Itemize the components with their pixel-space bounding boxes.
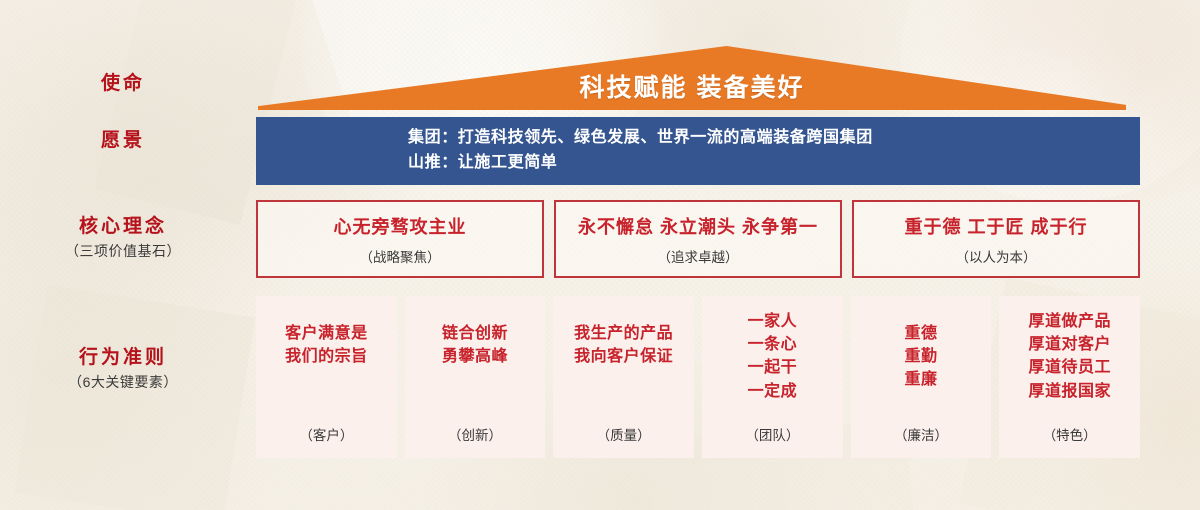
core-concept-title-1: 心无旁骛攻主业 — [334, 213, 467, 239]
tier-label-core-concept-text: 核心理念 — [8, 215, 238, 239]
tier-label-core-concept: 核心理念 （三项价值基石） — [8, 215, 238, 260]
behavior-card-innovation[interactable]: 链合创新勇攀高峰 （创新） — [405, 296, 546, 458]
core-concept-row: 心无旁骛攻主业 （战略聚焦） 永不懈怠 永立潮头 永争第一 （追求卓越） 重于德… — [256, 200, 1140, 278]
mission-banner: 科技赋能 装备美好 — [258, 46, 1126, 110]
behavior-lines-customer: 客户满意是我们的宗旨 — [285, 322, 368, 368]
tier-label-mission: 使命 — [8, 72, 238, 96]
background-silhouette-3 — [15, 285, 255, 510]
behavior-tag-team: （团队） — [745, 424, 799, 444]
vision-statement-block: 集团：打造科技领先、绿色发展、世界一流的高端装备跨国集团 山推：让施工更简单 — [408, 126, 873, 176]
vision-statement-group: 集团：打造科技领先、绿色发展、世界一流的高端装备跨国集团 — [408, 126, 873, 151]
behavior-card-character[interactable]: 厚道做产品厚道对客户厚道待员工厚道报国家 （特色） — [999, 296, 1140, 458]
mission-statement: 科技赋能 装备美好 — [258, 68, 1126, 104]
tier-label-vision: 愿景 — [8, 129, 238, 153]
behavior-lines-integrity: 重德重勤重廉 — [905, 322, 938, 392]
behavior-tag-customer: （客户） — [299, 424, 353, 444]
behavior-card-customer[interactable]: 客户满意是我们的宗旨 （客户） — [256, 296, 397, 458]
core-concept-subtitle-3: （以人为本） — [956, 246, 1037, 266]
behavior-card-integrity[interactable]: 重德重勤重廉 （廉洁） — [851, 296, 992, 458]
behavior-card-quality[interactable]: 我生产的产品我向客户保证 （质量） — [553, 296, 694, 458]
core-concept-title-2: 永不懈怠 永立潮头 永争第一 — [578, 213, 818, 239]
core-concept-title-3: 重于德 工于匠 成于行 — [904, 213, 1087, 239]
tier-label-behavior: 行为准则 （6大关键要素） — [8, 346, 238, 391]
tier-label-core-concept-subtext: （三项价值基石） — [8, 243, 238, 261]
behavior-tag-integrity: （廉洁） — [894, 424, 948, 444]
core-concept-subtitle-1: （战略聚焦） — [360, 246, 441, 266]
tier-label-behavior-text: 行为准则 — [8, 346, 238, 370]
behavior-lines-team: 一家人一条心一起干一定成 — [748, 310, 798, 403]
behavior-principle-row: 客户满意是我们的宗旨 （客户） 链合创新勇攀高峰 （创新） 我生产的产品我向客户… — [256, 296, 1140, 458]
tier-label-behavior-subtext: （6大关键要素） — [8, 374, 238, 392]
behavior-lines-innovation: 链合创新勇攀高峰 — [442, 322, 508, 368]
core-concept-card-2[interactable]: 永不懈怠 永立潮头 永争第一 （追求卓越） — [554, 200, 842, 278]
core-concept-card-3[interactable]: 重于德 工于匠 成于行 （以人为本） — [852, 200, 1140, 278]
background-silhouette-1 — [94, 0, 295, 225]
core-concept-subtitle-2: （追求卓越） — [658, 246, 739, 266]
behavior-tag-innovation: （创新） — [448, 424, 502, 444]
behavior-tag-quality: （质量） — [597, 424, 651, 444]
vision-statement-shantui: 山推：让施工更简单 — [408, 151, 873, 176]
behavior-card-team[interactable]: 一家人一条心一起干一定成 （团队） — [702, 296, 843, 458]
culture-pyramid-canvas: 使命 愿景 核心理念 （三项价值基石） 行为准则 （6大关键要素） 科技赋能 装… — [0, 0, 1200, 510]
vision-banner: 集团：打造科技领先、绿色发展、世界一流的高端装备跨国集团 山推：让施工更简单 — [256, 117, 1140, 185]
behavior-lines-quality: 我生产的产品我向客户保证 — [574, 322, 673, 368]
behavior-lines-character: 厚道做产品厚道对客户厚道待员工厚道报国家 — [1028, 310, 1111, 403]
tier-label-mission-text: 使命 — [8, 72, 238, 96]
behavior-tag-character: （特色） — [1043, 424, 1097, 444]
core-concept-card-1[interactable]: 心无旁骛攻主业 （战略聚焦） — [256, 200, 544, 278]
tier-label-vision-text: 愿景 — [8, 129, 238, 153]
